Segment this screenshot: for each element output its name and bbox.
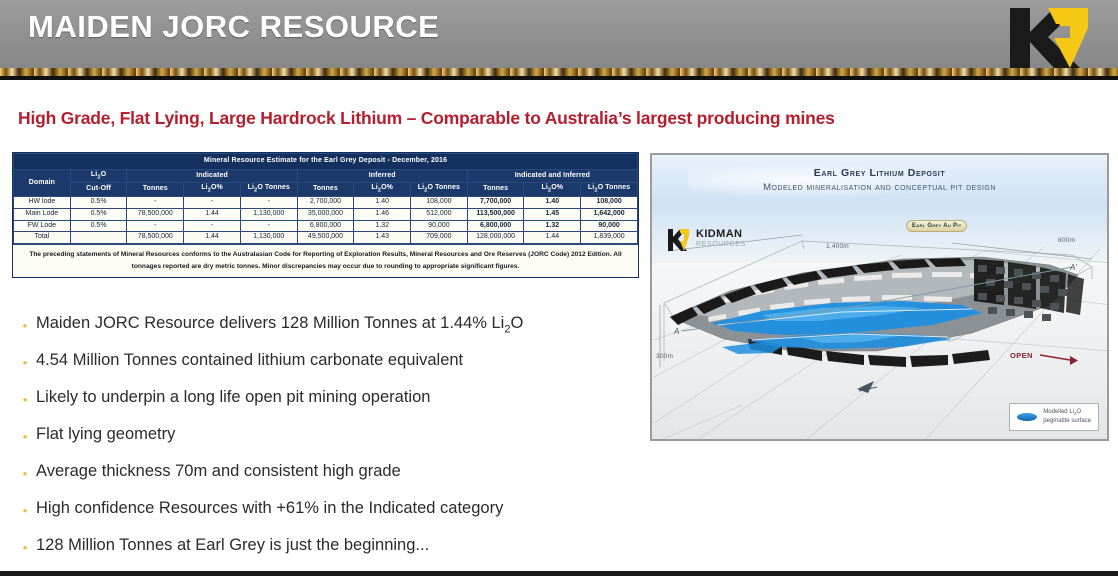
bullet-dot-icon: • xyxy=(14,460,36,480)
cell-inf-li2o: 108,000 xyxy=(411,197,468,209)
col-tot-li2o-tonnes: Li2O Tonnes xyxy=(581,183,638,197)
cell-tot-grade: 1.32 xyxy=(524,220,581,232)
col-group-indicated-inferred: Indicated and Inferred xyxy=(467,169,637,183)
list-item: • Maiden JORC Resource delivers 128 Mill… xyxy=(14,312,644,349)
col-inf-li2o-tonnes: Li2O Tonnes xyxy=(411,183,468,197)
cell-tot-grade: 1.44 xyxy=(524,232,581,244)
jorc-resource-table-container: Mineral Resource Estimate for the Earl G… xyxy=(12,152,639,278)
table-group-header-row: Domain Li2O Indicated Inferred Indicated… xyxy=(14,169,638,183)
cell-inf-tonnes: 2,700,000 xyxy=(297,197,354,209)
list-item: • Likely to underpin a long life open pi… xyxy=(14,386,644,423)
kidman-logo-name: KIDMAN xyxy=(696,229,746,240)
kidman-k-logo-icon xyxy=(1004,4,1100,72)
cell-inf-grade: 1.40 xyxy=(354,197,411,209)
cell-cutoff: 0.5% xyxy=(70,197,127,209)
cell-cutoff xyxy=(70,232,127,244)
table-footnote: The preceding statements of Mineral Reso… xyxy=(13,244,638,277)
cell-ind-li2o: - xyxy=(240,220,297,232)
table-sub-header-row: Cut-Off Tonnes Li2O% Li2O Tonnes Tonnes … xyxy=(14,183,638,197)
table-row: HW lode 0.5% - - - 2,700,000 1.40 108,00… xyxy=(14,197,638,209)
bullet-dot-icon: • xyxy=(14,534,36,554)
panel-legend: Modelled Li2O pegmatite surface xyxy=(1009,403,1099,431)
section-marker-a: A xyxy=(674,327,679,336)
cell-tot-grade: 1.40 xyxy=(524,197,581,209)
cell-ind-tonnes: - xyxy=(127,197,184,209)
bullet-dot-icon: • xyxy=(14,386,36,406)
cell-tot-tonnes: 6,800,000 xyxy=(467,220,524,232)
col-cutoff-top: Li2O xyxy=(70,169,127,183)
kidman-resources-logo: KIDMAN RESOURCES xyxy=(666,227,746,253)
table-row: FW Lode 0.5% - - - 6,800,000 1.32 90,000… xyxy=(14,220,638,232)
slide-subtitle: High Grade, Flat Lying, Large Hardrock L… xyxy=(18,108,835,129)
bullet-dot-icon: • xyxy=(14,497,36,517)
panel-subtitle: Modeled mineralisation and conceptual pi… xyxy=(652,182,1107,193)
dimension-label-length: 1,400m xyxy=(826,243,849,250)
bullet-text: 4.54 Million Tonnes contained lithium ca… xyxy=(36,349,463,371)
col-tot-tonnes: Tonnes xyxy=(467,183,524,197)
table-row: Main Lode 0.5% 78,500,000 1.44 1,130,000… xyxy=(14,208,638,220)
bullet-text: Likely to underpin a long life open pit … xyxy=(36,386,430,408)
kidman-logo-subtitle: RESOURCES xyxy=(696,240,746,251)
deposit-3d-panel: Earl Grey Lithium Deposit Modeled minera… xyxy=(650,153,1109,441)
cell-domain: HW lode xyxy=(14,197,71,209)
pegmatite-swatch-icon xyxy=(1017,413,1037,421)
bullet-text: Maiden JORC Resource delivers 128 Millio… xyxy=(36,312,523,337)
dimension-label-width: 800m xyxy=(1058,237,1075,244)
cell-ind-grade: 1.44 xyxy=(184,232,241,244)
col-tot-grade: Li2O% xyxy=(524,183,581,197)
legend-label: Modelled Li2O pegmatite surface xyxy=(1043,408,1091,426)
bullet-dot-icon: • xyxy=(14,349,36,369)
list-item: • High confidence Resources with +61% in… xyxy=(14,497,644,534)
page-title: MAIDEN JORC RESOURCE xyxy=(28,9,439,45)
table-row-total: Total 78,500,000 1.44 1,130,000 49,500,0… xyxy=(14,232,638,244)
deposit-3d-model xyxy=(652,155,1109,441)
list-item: • Average thickness 70m and consistent h… xyxy=(14,460,644,497)
cell-inf-grade: 1.32 xyxy=(354,220,411,232)
cell-ind-li2o: 1,130,000 xyxy=(240,208,297,220)
cell-cutoff: 0.5% xyxy=(70,220,127,232)
cell-inf-li2o: 709,000 xyxy=(411,232,468,244)
dimension-label-depth: 300m xyxy=(656,353,673,360)
cell-ind-tonnes: 78,500,000 xyxy=(127,208,184,220)
cell-tot-li2o: 1,642,000 xyxy=(581,208,638,220)
jorc-resource-table: Mineral Resource Estimate for the Earl G… xyxy=(13,153,638,244)
bullet-dot-icon: • xyxy=(14,423,36,443)
col-inf-tonnes: Tonnes xyxy=(297,183,354,197)
cell-tot-li2o: 108,000 xyxy=(581,197,638,209)
col-group-inferred: Inferred xyxy=(297,169,467,183)
cell-tot-tonnes: 113,500,000 xyxy=(467,208,524,220)
cell-domain: FW Lode xyxy=(14,220,71,232)
list-item: • 128 Million Tonnes at Earl Grey is jus… xyxy=(14,534,644,571)
cell-tot-li2o: 1,839,000 xyxy=(581,232,638,244)
list-item: • Flat lying geometry xyxy=(14,423,644,460)
cell-domain: Total xyxy=(14,232,71,244)
cell-inf-tonnes: 6,800,000 xyxy=(297,220,354,232)
header-bottom-strip xyxy=(0,76,1118,80)
cell-inf-grade: 1.46 xyxy=(354,208,411,220)
bullet-text: Flat lying geometry xyxy=(36,423,175,445)
cell-tot-grade: 1.45 xyxy=(524,208,581,220)
cell-ind-tonnes: - xyxy=(127,220,184,232)
list-item: • 4.54 Million Tonnes contained lithium … xyxy=(14,349,644,386)
gold-accent-bar xyxy=(0,68,1118,76)
section-marker-a-prime: A' xyxy=(1070,263,1077,272)
bullet-dot-icon: • xyxy=(14,312,36,332)
col-group-indicated: Indicated xyxy=(127,169,297,183)
table-caption-row: Mineral Resource Estimate for the Earl G… xyxy=(14,154,638,170)
cell-inf-grade: 1.43 xyxy=(354,232,411,244)
cell-inf-tonnes: 35,000,000 xyxy=(297,208,354,220)
table-body: HW lode 0.5% - - - 2,700,000 1.40 108,00… xyxy=(14,197,638,244)
kidman-k-logo-icon xyxy=(666,227,692,253)
cell-ind-li2o: - xyxy=(240,197,297,209)
bullet-text: 128 Million Tonnes at Earl Grey is just … xyxy=(36,534,429,556)
col-inf-grade: Li2O% xyxy=(354,183,411,197)
slide-header: MAIDEN JORC RESOURCE xyxy=(0,0,1118,80)
cell-tot-tonnes: 128,000,000 xyxy=(467,232,524,244)
north-arrow-icon xyxy=(857,381,877,393)
cell-inf-tonnes: 49,500,000 xyxy=(297,232,354,244)
col-ind-tonnes: Tonnes xyxy=(127,183,184,197)
cell-tot-li2o: 90,000 xyxy=(581,220,638,232)
cell-inf-li2o: 90,000 xyxy=(411,220,468,232)
bullet-list: • Maiden JORC Resource delivers 128 Mill… xyxy=(14,312,644,571)
col-ind-grade: Li2O% xyxy=(184,183,241,197)
col-domain: Domain xyxy=(14,169,71,196)
slide: MAIDEN JORC RESOURCE High Grade, Flat Ly… xyxy=(0,0,1118,576)
cell-ind-grade: 1.44 xyxy=(184,208,241,220)
cell-ind-grade: - xyxy=(184,220,241,232)
col-ind-li2o-tonnes: Li2O Tonnes xyxy=(240,183,297,197)
col-cutoff-bottom: Cut-Off xyxy=(70,183,127,197)
cell-tot-tonnes: 7,700,000 xyxy=(467,197,524,209)
cell-cutoff: 0.5% xyxy=(70,208,127,220)
bullet-text: High confidence Resources with +61% in t… xyxy=(36,497,503,519)
cell-inf-li2o: 512,000 xyxy=(411,208,468,220)
cell-ind-grade: - xyxy=(184,197,241,209)
cell-ind-li2o: 1,130,000 xyxy=(240,232,297,244)
open-arrow-icon xyxy=(1040,355,1078,365)
bullet-text: Average thickness 70m and consistent hig… xyxy=(36,460,401,482)
cell-domain: Main Lode xyxy=(14,208,71,220)
panel-title: Earl Grey Lithium Deposit xyxy=(652,167,1107,179)
cell-ind-tonnes: 78,500,000 xyxy=(127,232,184,244)
table-caption: Mineral Resource Estimate for the Earl G… xyxy=(14,154,638,170)
open-direction-label: OPEN xyxy=(1010,351,1033,360)
earl-grey-au-pit-label: Earl Grey Au Pit xyxy=(906,220,967,232)
